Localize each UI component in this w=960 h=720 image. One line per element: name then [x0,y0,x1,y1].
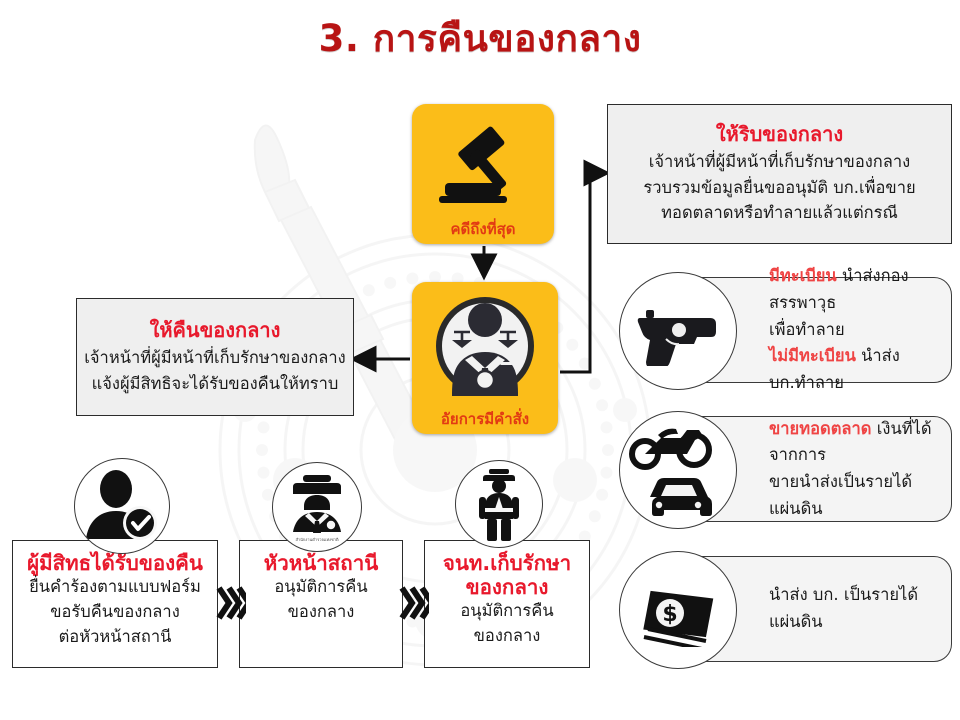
step-title: ผู้มีสิทธได้รับของคืน [27,551,203,575]
return-step-station-chief: หัวหน้าสถานี อนุมัติการคืน ของกลาง [239,540,403,668]
step-line: ขอรับคืนของกลาง [50,600,180,625]
flow-node-label: อัยการมีคำสั่ง [441,411,529,435]
person-check-icon [74,458,170,554]
card-text: ขายนำส่งเป็นรายได้แผ่นดิน [769,472,912,518]
banknotes-icon: $ [619,551,737,669]
flow-node-prosecutor-order[interactable]: อัยการมีคำสั่ง [412,282,558,434]
triple-chevron-right-1 [216,580,246,626]
step-line: อนุมัติการคืน [460,599,553,624]
panel-line: แจ้งผู้มีสิทธิจะได้รับของคืนให้ทราบ [92,371,339,397]
step-line: ต่อหัวหน้าสถานี [59,625,172,650]
card-line: ไม่มีทะเบียน นำส่ง บก.ทำลาย [769,343,939,396]
page-title: 3. การคืนของกลาง [0,18,960,61]
panel-title: ให้ริบของกลาง [716,122,843,146]
triple-chevron-right-2 [399,580,429,626]
panel-line: เจ้าหน้าที่ผู้มีหน้าที่เก็บรักษาของกลาง [84,345,345,371]
card-text: นำส่ง บก. เป็นรายได้แผ่นดิน [769,585,918,631]
card-line: นำส่ง บก. เป็นรายได้แผ่นดิน [769,582,939,635]
police-officer-standing-icon [455,460,543,548]
card-highlight: ไม่มีทะเบียน [769,346,856,365]
step-title: หัวหน้าสถานี [264,551,379,575]
card-highlight: ขายทอดตลาด [769,419,872,438]
panel-line: รวบรวมข้อมูลยื่นขออนุมัติ บก.เพื่อขาย [643,175,915,201]
card-highlight: มีทะเบียน [769,266,837,285]
card-line: ขายนำส่งเป็นรายได้แผ่นดิน [769,469,939,522]
svg-text:$: $ [662,602,677,627]
infographic-canvas: 3. การคืนของกลาง คดีถึงที่สุด [0,0,960,720]
arrow-prosecutor-to-confiscate [560,173,606,372]
return-step-evidence-custodian: จนท.เก็บรักษา ของกลาง อนุมัติการคืน ของก… [424,540,590,668]
card-line: มีทะเบียน นำส่งกองสรรพาวุธ [769,263,939,316]
police-officer-bust-icon: สำนักงานตำรวจแห่งชาติ [272,462,362,552]
step-title: ของกลาง [466,575,549,599]
return-step-rights-holder: ผู้มีสิทธได้รับของคืน ยื่นคำร้องตามแบบฟอ… [12,540,218,668]
panel-title: ให้คืนของกลาง [150,318,281,342]
panel-return: ให้คืนของกลาง เจ้าหน้าที่ผู้มีหน้าที่เก็… [76,298,354,416]
panel-line: ทอดตลาดหรือทำลายแล้วแต่กรณี [661,200,898,226]
step-line: อนุมัติการคืน [274,575,367,600]
prosecutor-icon [412,282,558,411]
step-line: ของกลาง [288,600,355,625]
flow-node-case-final[interactable]: คดีถึงที่สุด [412,104,554,244]
step-line: ยื่นคำร้องตามแบบฟอร์ม [29,575,201,600]
svg-text:สำนักงานตำรวจแห่งชาติ: สำนักงานตำรวจแห่งชาติ [295,537,338,542]
card-text: เพื่อทำลาย [769,320,845,339]
card-line: ขายทอดตลาด เงินที่ได้จากการ [769,416,939,469]
gavel-icon [412,104,554,221]
motorcycle-car-icon [619,411,737,529]
card-line: เพื่อทำลาย [769,317,939,344]
step-line: ของกลาง [474,624,541,649]
panel-confiscate: ให้ริบของกลาง เจ้าหน้าที่ผู้มีหน้าที่เก็… [607,104,952,244]
flow-node-label: คดีถึงที่สุด [451,221,516,245]
pistol-icon [619,272,737,390]
step-title: จนท.เก็บรักษา [443,551,571,575]
panel-line: เจ้าหน้าที่ผู้มีหน้าที่เก็บรักษาของกลาง [649,149,910,175]
